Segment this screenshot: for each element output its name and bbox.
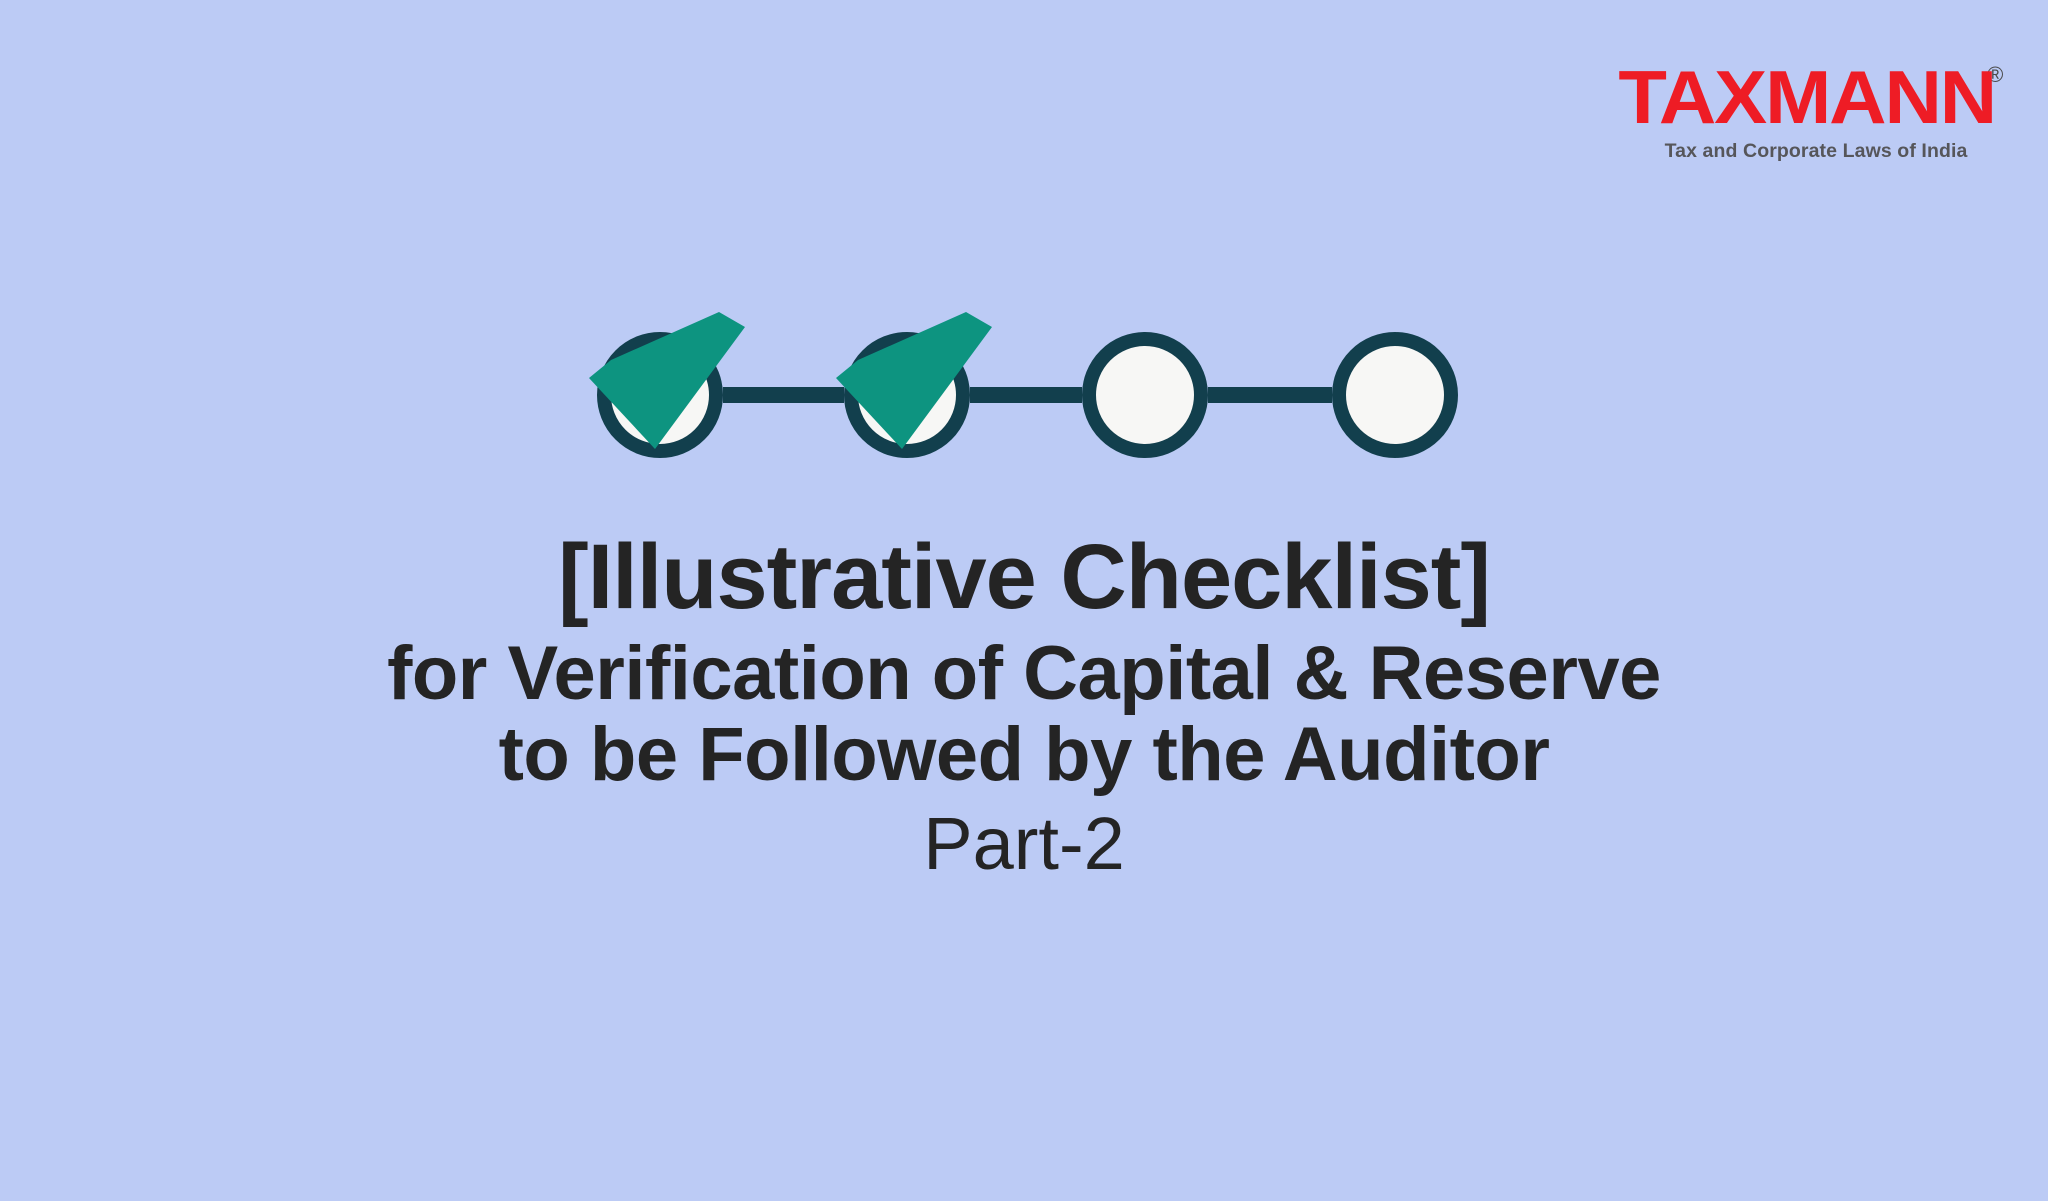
page-title: [Illustrative Checklist] bbox=[0, 530, 2048, 626]
logo-tagline: Tax and Corporate Laws of India bbox=[1636, 142, 1996, 162]
logo-wordmark-row: TAXMANN ® bbox=[1636, 62, 1996, 133]
step-3-ring bbox=[1089, 339, 1201, 451]
step-4-ring bbox=[1339, 339, 1451, 451]
step-circle-3[interactable] bbox=[1089, 339, 1201, 451]
page-subtitle-line-2: to be Followed by the Auditor bbox=[0, 715, 2048, 795]
connector-bar-2-3 bbox=[970, 387, 1082, 403]
connector-bar-3-4 bbox=[1208, 387, 1332, 403]
step-circle-4[interactable] bbox=[1339, 339, 1451, 451]
logo-wordmark: TAXMANN bbox=[1618, 62, 1995, 133]
connector-bar-1-2 bbox=[723, 387, 844, 403]
page-subtitle-line-1: for Verification of Capital & Reserve bbox=[0, 634, 2048, 714]
title-block: [Illustrative Checklist] for Verificatio… bbox=[0, 530, 2048, 883]
part-label: Part-2 bbox=[0, 805, 2048, 883]
checklist-progress-graphic bbox=[0, 300, 2048, 490]
taxmann-logo: TAXMANN ® Tax and Corporate Laws of Indi… bbox=[1636, 62, 1996, 162]
